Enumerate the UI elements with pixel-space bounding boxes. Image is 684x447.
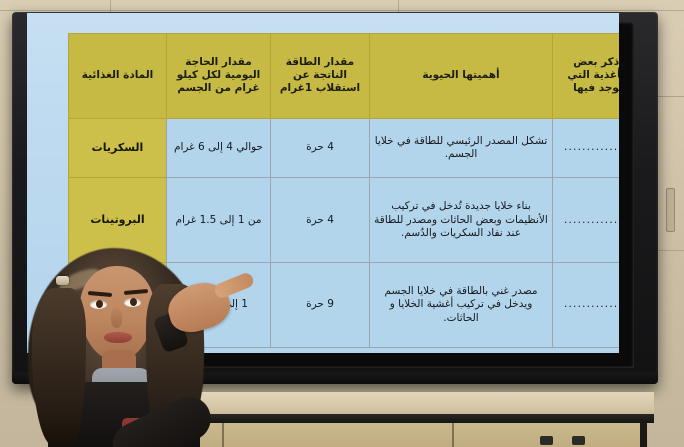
presenter — [18, 232, 230, 447]
header-daily-requirement: مقدار الحاجة اليومية لكل كيلو غرام من ال… — [167, 34, 271, 119]
cell-daily-requirement: حوالي 4 إلى 6 غرام — [167, 118, 271, 178]
table-row: ............... تشكل المصدر الرئيسي للطا… — [69, 118, 620, 178]
header-foods-examples: أذكر بعض الأغذية التي توجد فيها — [553, 34, 620, 119]
presenter-nose — [111, 308, 122, 328]
cabinet-handle-right — [572, 436, 585, 445]
cell-energy-per-gram: 9 حرة — [271, 263, 370, 348]
table-header-row: أذكر بعض الأغذية التي توجد فيها أهميتها … — [69, 34, 620, 119]
cell-foods-examples: ............... — [553, 178, 620, 263]
screenshot-stage: أذكر بعض الأغذية التي توجد فيها أهميتها … — [0, 0, 684, 447]
cell-energy-per-gram: 4 حرة — [271, 178, 370, 263]
header-energy-per-gram: مقدار الطاقة الناتجة عن استقلاب 1غرام — [271, 34, 370, 119]
cabinet-leg-right — [640, 423, 647, 447]
cell-biological-importance: بناء خلايا جديدة تُدخل في تركيب الأنظيما… — [370, 178, 553, 263]
wall-seam-horizontal — [0, 10, 684, 11]
wall-socket — [666, 188, 675, 232]
cabinet-handle-left — [540, 436, 553, 445]
presenter-pupil-left — [96, 300, 103, 308]
cell-biological-importance: تشكل المصدر الرئيسي للطاقة في خلايا الجس… — [370, 118, 553, 178]
header-nutrient-name: المادة الغذائية — [69, 34, 167, 119]
presenter-hair-front-left — [32, 288, 86, 446]
cell-nutrient-name: السكريات — [69, 118, 167, 178]
presenter-hair-clip — [56, 276, 69, 285]
presenter-mouth — [104, 332, 132, 343]
cabinet-divider-right — [452, 423, 454, 447]
presenter-pupil-right — [130, 298, 137, 306]
cell-biological-importance: مصدر غني بالطاقة في خلايا الجسم ويدخل في… — [370, 263, 553, 348]
header-biological-importance: أهميتها الحيوية — [370, 34, 553, 119]
cell-foods-examples: ............... — [553, 263, 620, 348]
cell-foods-examples: ............... — [553, 118, 620, 178]
cell-energy-per-gram: 4 حرة — [271, 118, 370, 178]
